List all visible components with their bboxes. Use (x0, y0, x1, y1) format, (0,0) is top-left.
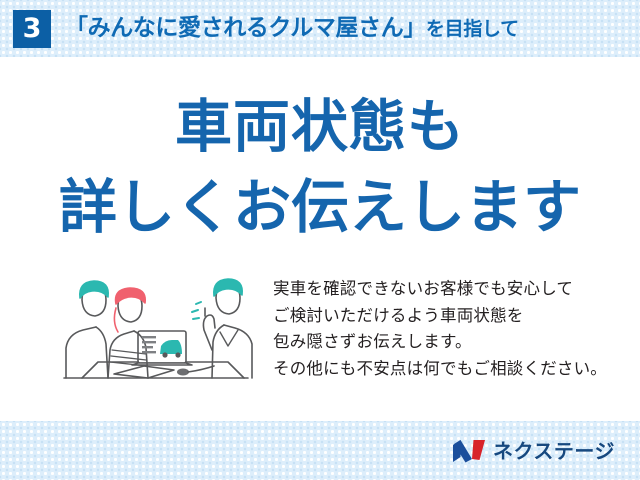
consultation-illustration (52, 270, 267, 395)
body-line-1: 実車を確認できないお客様でも安心して (273, 276, 607, 303)
headline-block: 車両状態も 詳しくお伝えします (0, 57, 640, 236)
section-number-badge: 3 (13, 10, 51, 48)
headline-line-2: 詳しくお伝えします (0, 178, 640, 236)
promo-banner: 3 「みんなに愛されるクルマ屋さん」 を目指して 車両状態も 詳しくお伝えします (0, 0, 640, 480)
header-title-sub: を目指して (426, 20, 519, 39)
header-title-main: 「みんなに愛されるクルマ屋さん」 (65, 17, 426, 40)
content-row: 実車を確認できないお客様でも安心して ご検討いただけるよう車両状態を 包み隠さず… (0, 270, 640, 410)
footer-band: ネクステージ (0, 421, 640, 480)
body-line-4: その他にも不安点は何でもご相談ください。 (273, 356, 607, 383)
nextage-logo-text: ネクステージ (493, 441, 615, 461)
body-line-2: ご検討いただけるよう車両状態を (273, 303, 607, 330)
consultation-illustration-svg (52, 270, 267, 395)
header-band: 3 「みんなに愛されるクルマ屋さん」 を目指して (0, 0, 640, 57)
nextage-n-icon (452, 438, 486, 464)
body-line-3: 包み隠さずお伝えします。 (273, 329, 607, 356)
header-title: 「みんなに愛されるクルマ屋さん」 を目指して (65, 17, 519, 40)
headline-line-1: 車両状態も (0, 99, 640, 156)
body-paragraph: 実車を確認できないお客様でも安心して ご検討いただけるよう車両状態を 包み隠さず… (273, 270, 607, 383)
nextage-logo: ネクステージ (452, 438, 615, 464)
